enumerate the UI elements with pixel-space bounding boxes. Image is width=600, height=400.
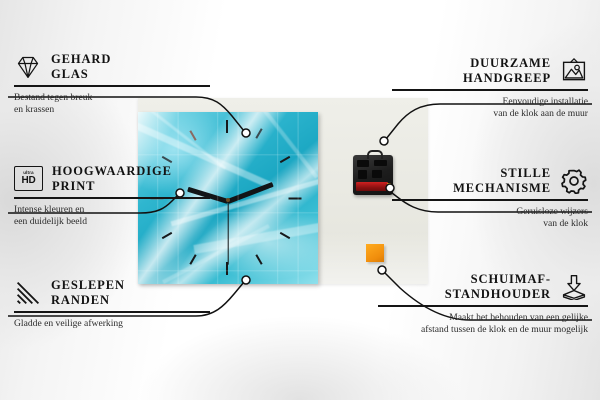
diagonal-lines-icon <box>14 280 42 306</box>
feature-header: DUURZAME HANDGREEP <box>392 56 588 85</box>
tick-12 <box>226 120 228 133</box>
feature-desc-line: en krassen <box>14 104 210 116</box>
picture-frame-icon <box>560 58 588 84</box>
arrow-down-pad-icon <box>560 274 588 300</box>
feature-hoogwaardige-print[interactable]: ultra HD HOOGWAARDIGE PRINT Intense kleu… <box>14 164 210 228</box>
feature-desc-line: een duidelijk beeld <box>14 216 210 228</box>
feature-title: DUURZAME HANDGREEP <box>463 56 551 85</box>
feature-desc-line: Geruisloze wijzers <box>392 206 588 218</box>
divider <box>14 197 210 199</box>
divider <box>392 199 588 201</box>
feature-duurzame-handgreep[interactable]: DUURZAME HANDGREEP Eenvoudige installati… <box>392 56 588 120</box>
feature-title: GESLEPEN RANDEN <box>51 278 125 307</box>
feature-desc-line: Bestand tegen breuk <box>14 92 210 104</box>
feature-desc-line: van de klok <box>392 218 588 230</box>
hour-hand <box>227 182 274 204</box>
feature-desc-line: Intense kleuren en <box>14 204 210 216</box>
hanger-hook-icon <box>367 150 383 159</box>
tick-11 <box>189 130 196 141</box>
divider <box>14 311 210 313</box>
divider <box>392 89 588 91</box>
hd-label: HD <box>21 176 35 186</box>
feature-header: ultra HD HOOGWAARDIGE PRINT <box>14 164 210 193</box>
foam-spacer-pad <box>366 244 384 262</box>
feature-title: STILLE MECHANISME <box>453 166 551 195</box>
feature-desc-line: afstand tussen de klok en de muur mogeli… <box>378 324 588 336</box>
battery <box>356 182 388 191</box>
ultra-hd-icon: ultra HD <box>14 166 43 191</box>
infographic-stage: GEHARD GLAS Bestand tegen breuk en krass… <box>0 0 600 400</box>
feature-title: HOOGWAARDIGE PRINT <box>52 164 172 193</box>
gear-icon <box>560 168 588 194</box>
divider <box>378 305 588 307</box>
feature-desc-line: Eenvoudige installatie <box>392 96 588 108</box>
feature-stille-mechanisme[interactable]: STILLE MECHANISME Geruisloze wijzers van… <box>392 166 588 230</box>
divider <box>14 85 210 87</box>
feature-header: GESLEPEN RANDEN <box>14 278 210 307</box>
tick-10 <box>162 156 173 163</box>
diamond-icon <box>14 54 42 80</box>
tick-1 <box>255 128 262 139</box>
tick-7 <box>189 254 196 265</box>
tick-3 <box>289 198 302 200</box>
feature-header: SCHUIMAF- STANDHOUDER <box>378 272 588 301</box>
tick-6 <box>226 262 228 275</box>
clock-movement <box>353 155 393 195</box>
center-pin <box>226 198 230 202</box>
tick-4 <box>280 232 291 239</box>
second-hand <box>227 201 228 265</box>
feature-header: GEHARD GLAS <box>14 52 210 81</box>
feature-schuimaf-standhouder[interactable]: SCHUIMAF- STANDHOUDER Maakt het behouden… <box>378 272 588 336</box>
feature-title: SCHUIMAF- STANDHOUDER <box>445 272 551 301</box>
feature-title: GEHARD GLAS <box>51 52 111 81</box>
feature-desc-line: Gladde en veilige afwerking <box>14 318 210 330</box>
feature-gehard-glas[interactable]: GEHARD GLAS Bestand tegen breuk en krass… <box>14 52 210 116</box>
tick-8 <box>162 232 173 239</box>
tick-2 <box>280 156 291 163</box>
feature-geslepen-randen[interactable]: GESLEPEN RANDEN Gladde en veilige afwerk… <box>14 278 210 330</box>
feature-header: STILLE MECHANISME <box>392 166 588 195</box>
feature-desc-line: Maakt het behouden van een gelijke <box>378 312 588 324</box>
feature-desc-line: van de klok aan de muur <box>392 108 588 120</box>
tick-5 <box>255 254 262 265</box>
